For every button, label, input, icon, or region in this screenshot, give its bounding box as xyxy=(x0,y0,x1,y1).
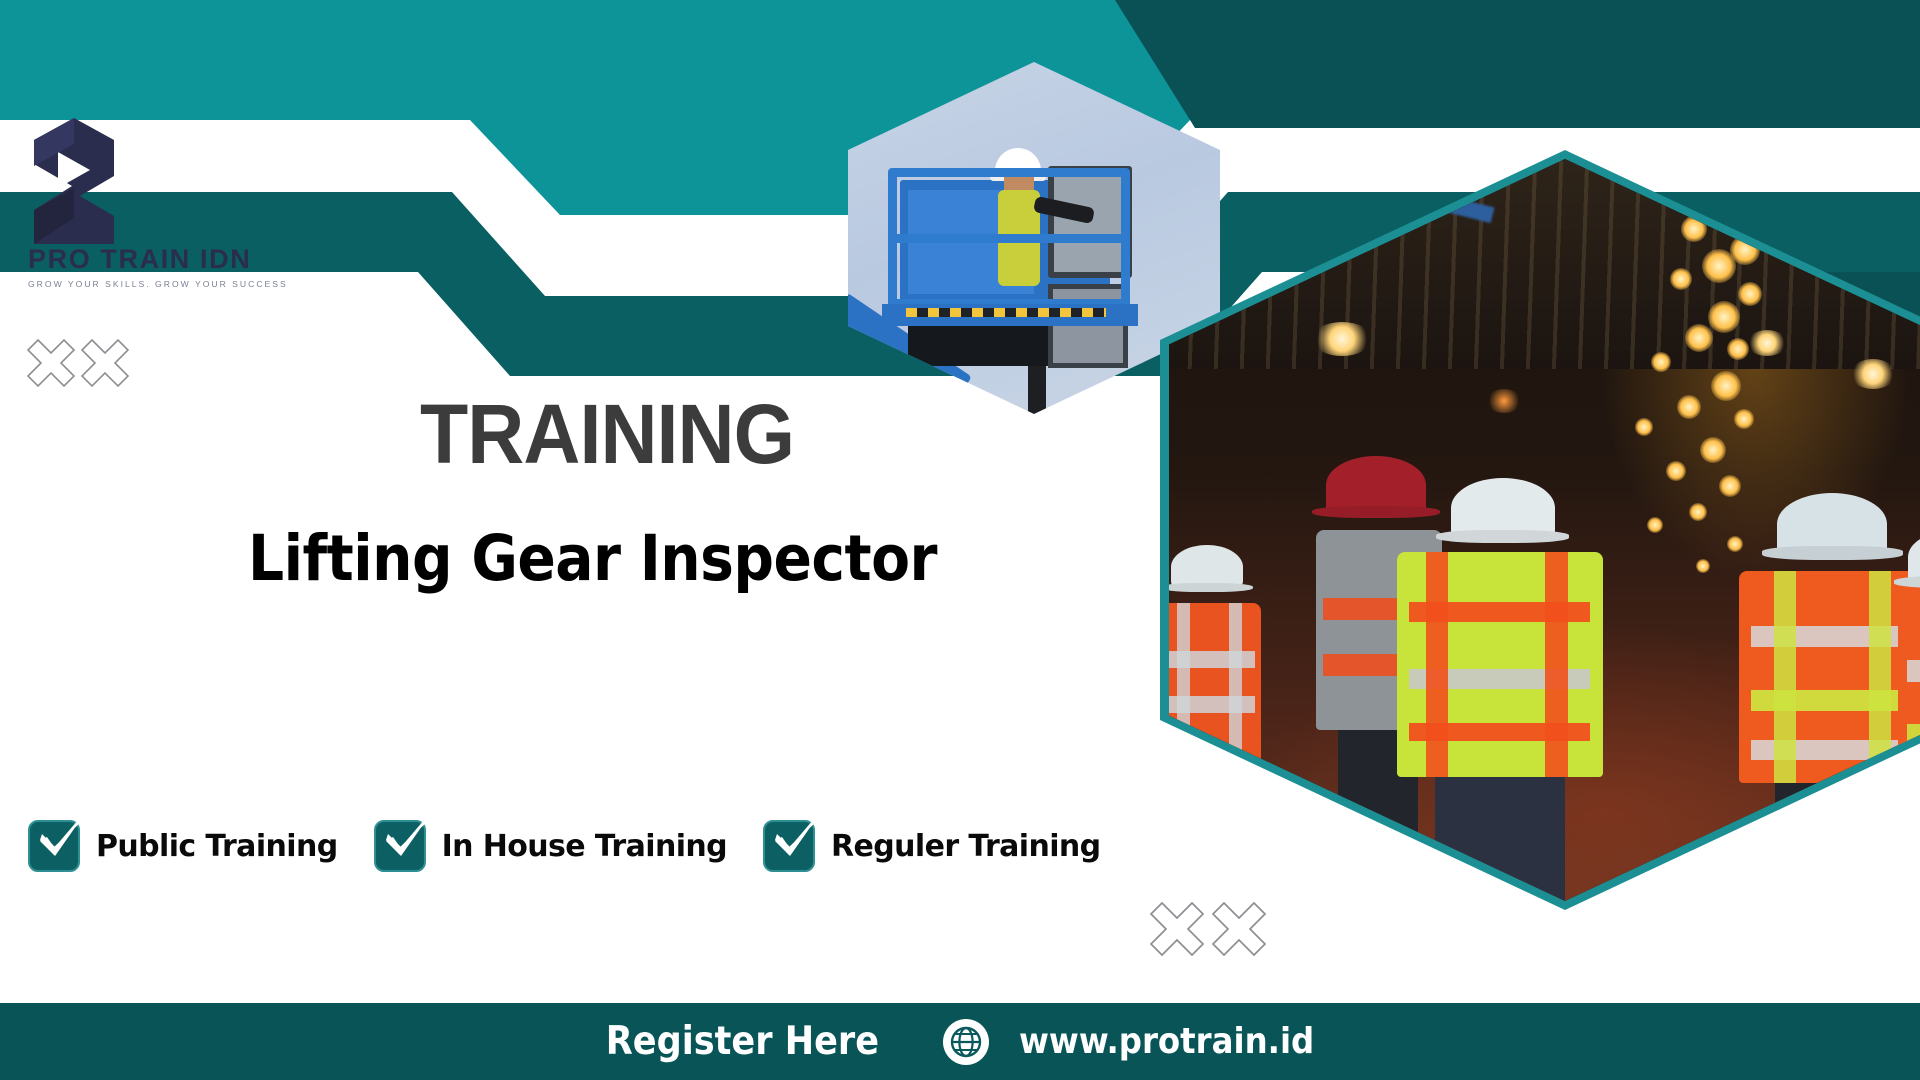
website-block[interactable]: www.protrain.id xyxy=(943,1019,1314,1065)
training-type-options: Public Training In House Training xyxy=(28,820,1101,872)
page-title: Lifting Gear Inspector xyxy=(248,522,937,595)
training-poster: PRO TRAIN IDN GROW YOUR SKILLS. GROW YOU… xyxy=(0,0,1920,1080)
checkbox-checked-icon[interactable] xyxy=(763,820,815,872)
option-reguler-training[interactable]: Reguler Training xyxy=(763,820,1101,872)
option-public-training[interactable]: Public Training xyxy=(28,820,338,872)
website-url[interactable]: www.protrain.id xyxy=(1019,1021,1314,1062)
x-decoration-top-left xyxy=(26,336,130,396)
option-label: Public Training xyxy=(96,829,338,864)
option-in-house-training[interactable]: In House Training xyxy=(374,820,727,872)
brand-tagline: GROW YOUR SKILLS. GROW YOUR SUCCESS xyxy=(28,279,328,289)
training-eyebrow-heading: TRAINING xyxy=(420,386,794,483)
checkbox-checked-icon[interactable] xyxy=(374,820,426,872)
globe-icon xyxy=(943,1019,989,1065)
pro-train-arrow-logo-icon xyxy=(28,118,120,244)
footer-bar: Register Here www.protrain.id xyxy=(0,1003,1920,1080)
option-label: In House Training xyxy=(442,829,727,864)
register-here-label[interactable]: Register Here xyxy=(606,1019,879,1064)
x-decoration-bottom-right xyxy=(1148,898,1266,966)
option-label: Reguler Training xyxy=(831,829,1101,864)
construction-site-hexagon-image xyxy=(1160,150,1920,910)
checkbox-checked-icon[interactable] xyxy=(28,820,80,872)
brand-logo[interactable]: PRO TRAIN IDN GROW YOUR SKILLS. GROW YOU… xyxy=(28,118,328,289)
brand-name: PRO TRAIN IDN xyxy=(28,244,328,275)
